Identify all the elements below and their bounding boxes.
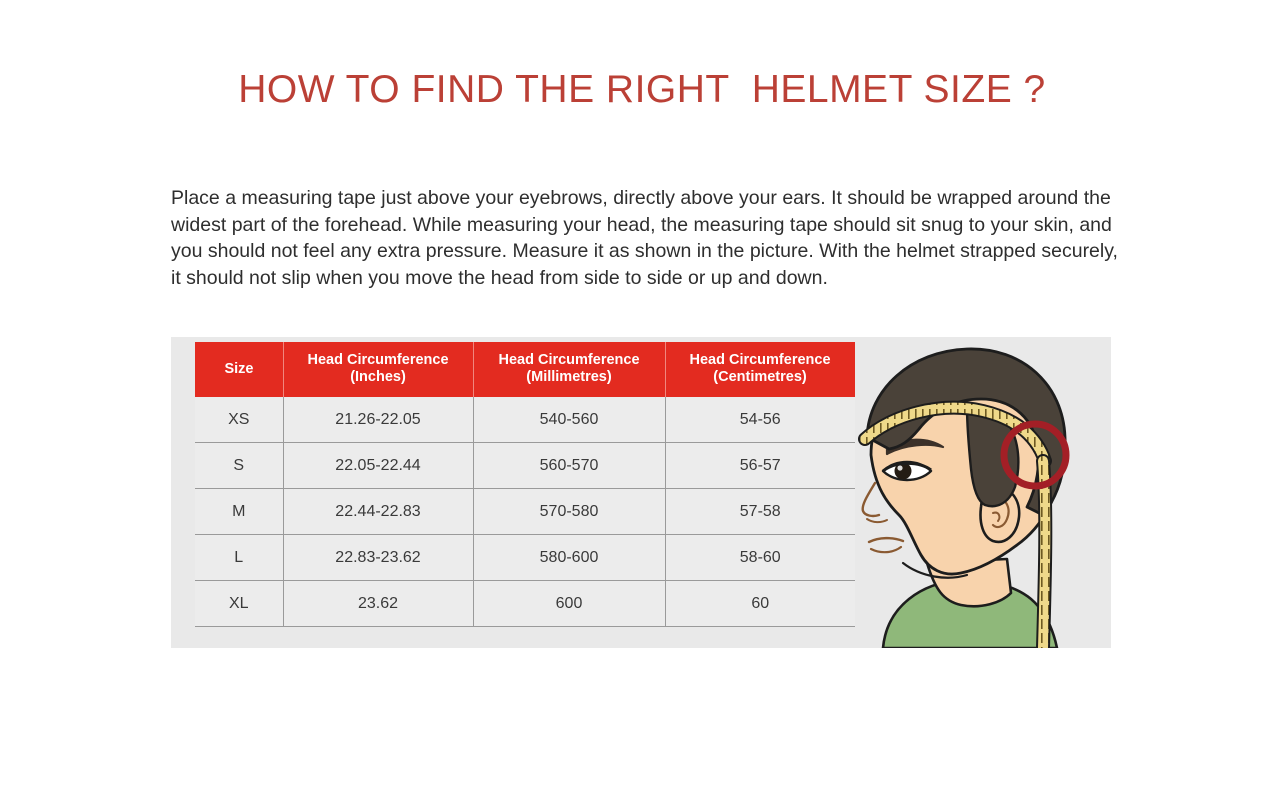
table-row: L 22.83-23.62 580-600 58-60 <box>195 535 855 581</box>
cell-millimetres: 540-560 <box>473 397 665 443</box>
column-header-millimetres: Head Circumference (Millimetres) <box>473 342 665 397</box>
helmet-size-table: Size Head Circumference (Inches) Head Ci… <box>195 342 855 627</box>
column-header-centimetres-line2: (Centimetres) <box>713 369 806 385</box>
table-header-row: Size Head Circumference (Inches) Head Ci… <box>195 342 855 397</box>
cell-inches: 21.26-22.05 <box>283 397 473 443</box>
column-header-millimetres-line1: Head Circumference <box>498 352 639 368</box>
column-header-inches-line1: Head Circumference <box>307 352 448 368</box>
column-header-millimetres-line2: (Millimetres) <box>526 369 611 385</box>
cell-centimetres: 56-57 <box>665 443 855 489</box>
cell-centimetres: 60 <box>665 581 855 627</box>
cell-millimetres: 570-580 <box>473 489 665 535</box>
cell-centimetres: 57-58 <box>665 489 855 535</box>
cell-inches: 22.83-23.62 <box>283 535 473 581</box>
page-title: HOW TO FIND THE RIGHT HELMET SIZE ? <box>0 68 1284 112</box>
cell-millimetres: 580-600 <box>473 535 665 581</box>
cell-size: XS <box>195 397 283 443</box>
cell-millimetres: 560-570 <box>473 443 665 489</box>
instructions-paragraph: Place a measuring tape just above your e… <box>171 185 1119 291</box>
table-row: M 22.44-22.83 570-580 57-58 <box>195 489 855 535</box>
column-header-centimetres-line1: Head Circumference <box>689 352 830 368</box>
table-row: S 22.05-22.44 560-570 56-57 <box>195 443 855 489</box>
cell-size: L <box>195 535 283 581</box>
size-chart-panel: Size Head Circumference (Inches) Head Ci… <box>171 337 1111 648</box>
cell-centimetres: 54-56 <box>665 397 855 443</box>
cell-inches: 22.44-22.83 <box>283 489 473 535</box>
cell-millimetres: 600 <box>473 581 665 627</box>
cell-size: M <box>195 489 283 535</box>
cell-size: S <box>195 443 283 489</box>
column-header-centimetres: Head Circumference (Centimetres) <box>665 342 855 397</box>
column-header-size: Size <box>195 342 283 397</box>
cell-inches: 22.05-22.44 <box>283 443 473 489</box>
cell-centimetres: 58-60 <box>665 535 855 581</box>
table-row: XL 23.62 600 60 <box>195 581 855 627</box>
cell-size: XL <box>195 581 283 627</box>
eye-shape <box>883 462 931 480</box>
cell-inches: 23.62 <box>283 581 473 627</box>
column-header-size-line1: Size <box>224 361 253 377</box>
table-row: XS 21.26-22.05 540-560 54-56 <box>195 397 855 443</box>
column-header-inches-line2: (Inches) <box>350 369 406 385</box>
column-header-inches: Head Circumference (Inches) <box>283 342 473 397</box>
head-measurement-illustration <box>831 337 1111 648</box>
